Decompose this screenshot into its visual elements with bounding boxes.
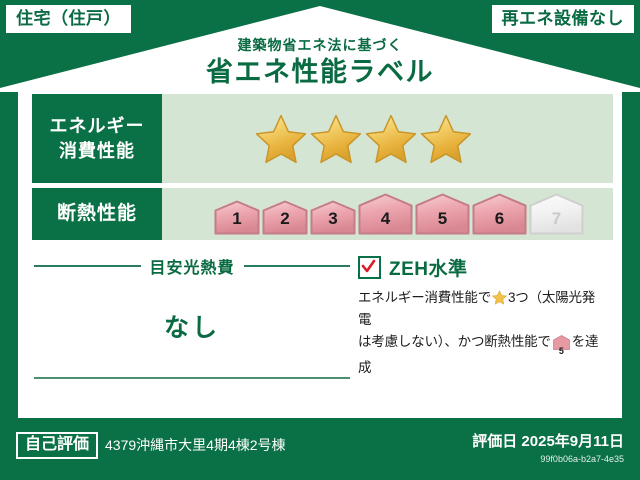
house-level-2: 2	[262, 200, 308, 235]
star-icon	[310, 113, 362, 165]
utility-cost-heading: 目安光熱費	[34, 254, 350, 278]
house-icon-inline-number: 5	[553, 347, 570, 356]
badge-renewable-equipment: 再エネ設備なし	[492, 5, 635, 33]
energy-label-line2: 消費性能	[59, 139, 135, 163]
utility-cost-value: なし	[34, 308, 350, 344]
zeh-title: ZEH水準	[389, 254, 468, 281]
zeh-description: エネルギー消費性能で3つ（太陽光発電は考慮しない）、かつ断熱性能で5を達成	[358, 287, 606, 378]
footer-right: 評価日 2025年9月11日 99f0b06a-b2a7-4e35	[472, 430, 624, 464]
utility-cost-underline	[34, 377, 350, 379]
document-hash: 99f0b06a-b2a7-4e35	[472, 454, 624, 464]
house-icon	[472, 193, 527, 235]
energy-performance-value	[162, 94, 613, 183]
insulation-performance-label: 断熱性能	[32, 188, 162, 240]
zeh-desc-part1: エネルギー消費性能で	[358, 290, 491, 305]
footer: 自己評価 4379沖縄市大里4期4棟2号棟 評価日 2025年9月11日 99f…	[0, 418, 640, 480]
house-level-3: 3	[310, 200, 356, 235]
star-icon-inline	[492, 290, 507, 305]
building-name: 4379沖縄市大里4期4棟2号棟	[105, 435, 286, 455]
zeh-checkbox	[358, 256, 381, 279]
insulation-label-text: 断熱性能	[57, 201, 137, 227]
check-icon	[361, 259, 376, 274]
rule-left	[34, 265, 141, 267]
label-card: エネルギー 消費性能 断熱性能 1234567 目安光熱費	[18, 88, 622, 418]
star-icon	[365, 113, 417, 165]
bottom-area: 目安光熱費 なし ZEH水準 エネルギー消費性能で3つ（太陽光発電は考慮しな	[34, 254, 606, 379]
house-scale: 1234567	[214, 193, 584, 235]
zeh-desc-part2: は考慮しない）、かつ断熱性能で	[358, 334, 551, 349]
house-icon	[358, 193, 413, 235]
house-level-5: 5	[415, 193, 470, 235]
house-level-7: 7	[529, 193, 584, 235]
energy-label-line1: エネルギー	[50, 114, 145, 138]
zeh-column: ZEH水準 エネルギー消費性能で3つ（太陽光発電は考慮しない）、かつ断熱性能で5…	[350, 254, 606, 379]
energy-performance-label: エネルギー 消費性能	[32, 94, 162, 183]
house-icon	[310, 200, 356, 235]
energy-performance-row: エネルギー 消費性能	[32, 94, 613, 183]
house-level-1: 1	[214, 200, 260, 235]
insulation-performance-row: 断熱性能 1234567	[32, 188, 613, 240]
star-icon	[420, 113, 472, 165]
star-icon	[255, 113, 307, 165]
house-icon-inline: 5	[553, 335, 570, 357]
house-icon	[529, 193, 584, 235]
title-subtitle: 建築物省エネ法に基づく	[0, 38, 640, 52]
utility-cost-heading-text: 目安光熱費	[150, 254, 235, 278]
insulation-performance-value: 1234567	[162, 188, 613, 240]
title-block: 建築物省エネ法に基づく 省エネ性能ラベル	[0, 38, 640, 86]
zeh-heading: ZEH水準	[358, 254, 606, 281]
house-level-6: 6	[472, 193, 527, 235]
house-icon	[262, 200, 308, 235]
house-icon	[415, 193, 470, 235]
energy-label-root: 住宅（住戸） 再エネ設備なし 建築物省エネ法に基づく 省エネ性能ラベル エネルギ…	[0, 0, 640, 480]
utility-cost-column: 目安光熱費 なし	[34, 254, 350, 379]
page-title: 省エネ性能ラベル	[0, 59, 640, 86]
star-rating	[255, 113, 472, 165]
footer-left: 自己評価 4379沖縄市大里4期4棟2号棟	[16, 432, 286, 459]
self-evaluation-badge: 自己評価	[16, 432, 98, 459]
badge-dwelling-type: 住宅（住戸）	[6, 5, 131, 33]
house-level-4: 4	[358, 193, 413, 235]
rule-right	[244, 265, 351, 267]
evaluation-date: 評価日 2025年9月11日	[472, 430, 624, 451]
house-icon	[214, 200, 260, 235]
